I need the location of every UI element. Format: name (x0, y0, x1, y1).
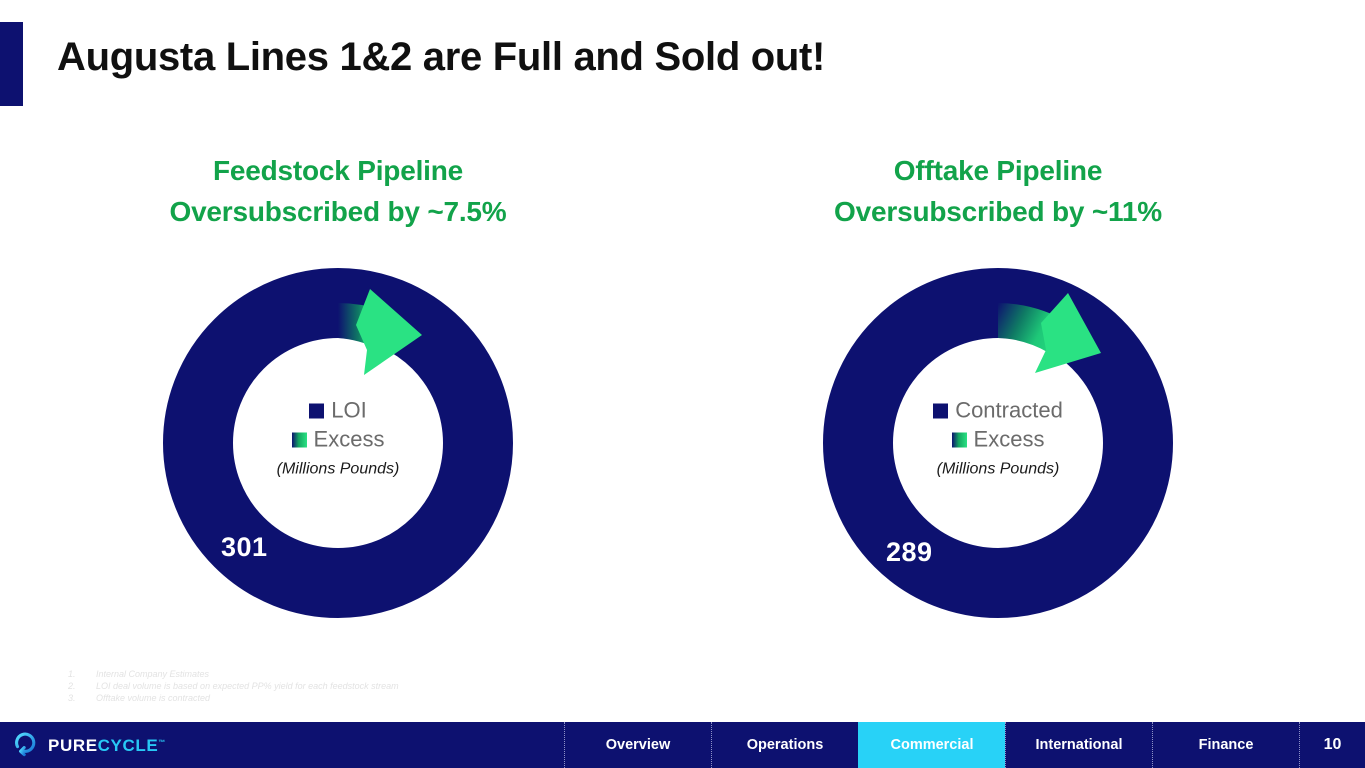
chart-block-offtake: Offtake Pipeline Oversubscribed by ~11% (718, 150, 1278, 625)
footnotes-list: 1.Internal Company Estimates 2.LOI deal … (68, 668, 399, 705)
footnote-text: LOI deal volume is based on expected PP%… (96, 681, 399, 691)
footnote-item: 1.Internal Company Estimates (68, 668, 399, 680)
title-accent-bar (0, 22, 23, 106)
donut-total-offtake: 289 (886, 537, 933, 568)
chart-heading-line1: Feedstock Pipeline (213, 155, 463, 186)
nav-tab-operations[interactable]: Operations (711, 722, 858, 768)
brand-wordmark: PURECYCLE™ (48, 737, 166, 754)
purecycle-recycle-icon (12, 729, 40, 762)
donut-chart-feedstock: LOI Excess (Millions Pounds) 301 (160, 253, 516, 625)
chart-heading-offtake: Offtake Pipeline Oversubscribed by ~11% (718, 150, 1278, 232)
nav-tab-commercial[interactable]: Commercial (858, 722, 1005, 768)
footnote-number: 1. (68, 668, 96, 680)
bottom-navigation-bar: PURECYCLE™ Overview Operations Commercia… (0, 722, 1365, 768)
brand-text-pure: PURE (48, 736, 98, 755)
nav-tab-finance[interactable]: Finance (1152, 722, 1299, 768)
donut-svg-feedstock (160, 253, 516, 625)
brand-trademark: ™ (158, 739, 166, 746)
nav-tab-international[interactable]: International (1005, 722, 1152, 768)
footnote-item: 2.LOI deal volume is based on expected P… (68, 680, 399, 692)
chart-heading-line1: Offtake Pipeline (894, 155, 1102, 186)
donut-chart-offtake: Contracted Excess (Millions Pounds) 289 (820, 253, 1176, 625)
footnote-number: 3. (68, 692, 96, 704)
footnote-text: Internal Company Estimates (96, 669, 209, 679)
nav-spacer (166, 722, 564, 768)
chart-heading-feedstock: Feedstock Pipeline Oversubscribed by ~7.… (58, 150, 618, 232)
footnote-item: 3.Offtake volume is contracted (68, 692, 399, 704)
chart-block-feedstock: Feedstock Pipeline Oversubscribed by ~7.… (58, 150, 618, 625)
footnote-number: 2. (68, 680, 96, 692)
brand-text-cycle: CYCLE (98, 736, 159, 755)
page-title: Augusta Lines 1&2 are Full and Sold out! (57, 35, 825, 80)
donut-total-feedstock: 301 (221, 532, 268, 563)
donut-svg-offtake (820, 253, 1176, 625)
page-number: 10 (1299, 722, 1365, 768)
chart-heading-line2: Oversubscribed by ~11% (718, 191, 1278, 232)
nav-tab-overview[interactable]: Overview (564, 722, 711, 768)
brand-logo[interactable]: PURECYCLE™ (0, 722, 166, 768)
chart-heading-line2: Oversubscribed by ~7.5% (58, 191, 618, 232)
footnote-text: Offtake volume is contracted (96, 693, 210, 703)
